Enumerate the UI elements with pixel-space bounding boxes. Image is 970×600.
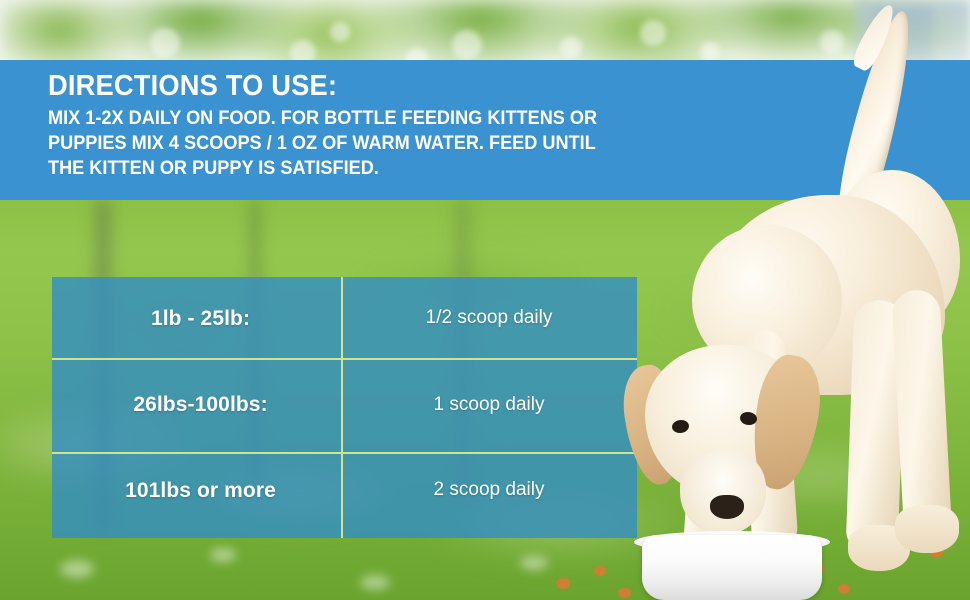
directions-line-3: THE KITTEN OR PUPPY IS SATISFIED. <box>48 156 680 181</box>
bokeh-dot <box>452 30 482 60</box>
puppy-photo <box>620 0 970 600</box>
table-row: 1lb - 25lb: 1/2 scoop daily <box>52 277 637 358</box>
table-cell-dose: 1 scoop daily <box>341 358 637 452</box>
puppy-nose <box>710 495 744 519</box>
table-gridline-vertical <box>341 277 343 538</box>
dosage-table: 1lb - 25lb: 1/2 scoop daily 26lbs-100lbs… <box>52 277 637 538</box>
directions-line-2: PUPPIES MIX 4 SCOOPS / 1 OZ OF WARM WATE… <box>48 131 680 156</box>
puppy-paw <box>895 505 959 553</box>
grass-flower <box>60 560 94 578</box>
table-cell-dose: 1/2 scoop daily <box>341 277 637 358</box>
directions-title: DIRECTIONS TO USE: <box>48 68 687 104</box>
puppy-muzzle <box>680 450 766 535</box>
grass-flower <box>520 556 548 570</box>
kibble-piece <box>594 566 606 576</box>
dog-bowl <box>642 535 822 600</box>
directions-line-1: MIX 1-2X DAILY ON FOOD. FOR BOTTLE FEEDI… <box>48 106 680 131</box>
grass-flower <box>210 548 236 562</box>
grass-flower <box>360 575 390 590</box>
table-row: 26lbs-100lbs: 1 scoop daily <box>52 358 637 452</box>
table-cell-weight: 101lbs or more <box>52 452 341 538</box>
table-gridline-horizontal <box>52 358 637 360</box>
directions-body: MIX 1-2X DAILY ON FOOD. FOR BOTTLE FEEDI… <box>48 106 680 181</box>
table-cell-dose: 2 scoop daily <box>341 452 637 538</box>
bokeh-dot <box>330 22 350 42</box>
table-cell-weight: 26lbs-100lbs: <box>52 358 341 452</box>
bokeh-dot <box>150 28 180 58</box>
table-cell-weight: 1lb - 25lb: <box>52 277 341 358</box>
bokeh-dot <box>560 36 582 58</box>
kibble-piece <box>556 578 570 589</box>
promo-banner-image: DIRECTIONS TO USE: MIX 1-2X DAILY ON FOO… <box>0 0 970 600</box>
table-gridline-horizontal <box>52 452 637 454</box>
table-row: 101lbs or more 2 scoop daily <box>52 452 637 538</box>
